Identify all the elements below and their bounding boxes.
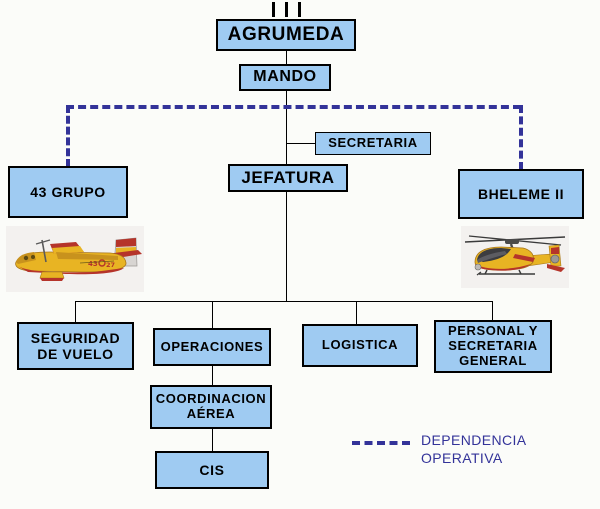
node-jefatura[interactable]: JEFATURA bbox=[228, 164, 348, 192]
node-coordinacion-aerea[interactable]: COORDINACION AÉREA bbox=[150, 385, 272, 429]
connector-operaciones-coordinacion bbox=[212, 366, 213, 386]
top-tick-1 bbox=[272, 2, 275, 17]
legend-dependencia-operativa: DEPENDENCIA OPERATIVA bbox=[352, 432, 527, 468]
connector-drop-operaciones bbox=[212, 301, 213, 329]
connector-coordinacion-cis bbox=[212, 429, 213, 452]
connector-drop-logistica bbox=[356, 301, 357, 325]
node-bheleme-ii[interactable]: BHELEME II bbox=[458, 169, 584, 219]
dependency-line-horizontal bbox=[66, 105, 521, 109]
node-operaciones[interactable]: OPERACIONES bbox=[153, 328, 271, 366]
eurocopter-ec135-photo bbox=[461, 226, 569, 288]
node-43-grupo[interactable]: 43 GRUPO bbox=[8, 166, 128, 218]
org-chart-canvas: AGRUMEDA MANDO SECRETARIA JEFATURA 43 GR… bbox=[0, 0, 600, 509]
connector-agrumeda-mando bbox=[286, 51, 287, 65]
top-tick-2 bbox=[285, 2, 288, 17]
connector-jefatura-bus bbox=[286, 192, 287, 302]
connector-branch-bus bbox=[75, 301, 493, 302]
legend-dashed-swatch bbox=[352, 441, 410, 445]
airplane-illustration: 43 27 bbox=[6, 226, 144, 292]
dependency-line-right bbox=[519, 105, 523, 170]
node-agrumeda[interactable]: AGRUMEDA bbox=[216, 19, 356, 51]
canadair-water-bomber-photo: 43 27 bbox=[6, 226, 144, 292]
connector-drop-personal bbox=[492, 301, 493, 321]
connector-drop-seguridad bbox=[75, 301, 76, 323]
tail-marking: 43 bbox=[88, 260, 98, 268]
node-secretaria[interactable]: SECRETARIA bbox=[315, 132, 431, 155]
connector-mando-jefatura bbox=[286, 91, 287, 165]
top-tick-3 bbox=[298, 2, 301, 17]
node-cis[interactable]: CIS bbox=[155, 451, 269, 489]
node-seguridad-de-vuelo[interactable]: SEGURIDAD DE VUELO bbox=[17, 322, 134, 370]
dependency-line-left bbox=[66, 105, 70, 167]
node-logistica[interactable]: LOGISTICA bbox=[302, 324, 418, 367]
node-personal-y-secretaria-general[interactable]: PERSONAL Y SECRETARIA GENERAL bbox=[434, 320, 552, 373]
connector-jefatura-secretaria bbox=[286, 143, 316, 144]
node-mando[interactable]: MANDO bbox=[239, 64, 331, 91]
svg-text:27: 27 bbox=[106, 261, 115, 269]
helicopter-illustration bbox=[461, 226, 569, 288]
legend-label: DEPENDENCIA OPERATIVA bbox=[421, 432, 527, 468]
